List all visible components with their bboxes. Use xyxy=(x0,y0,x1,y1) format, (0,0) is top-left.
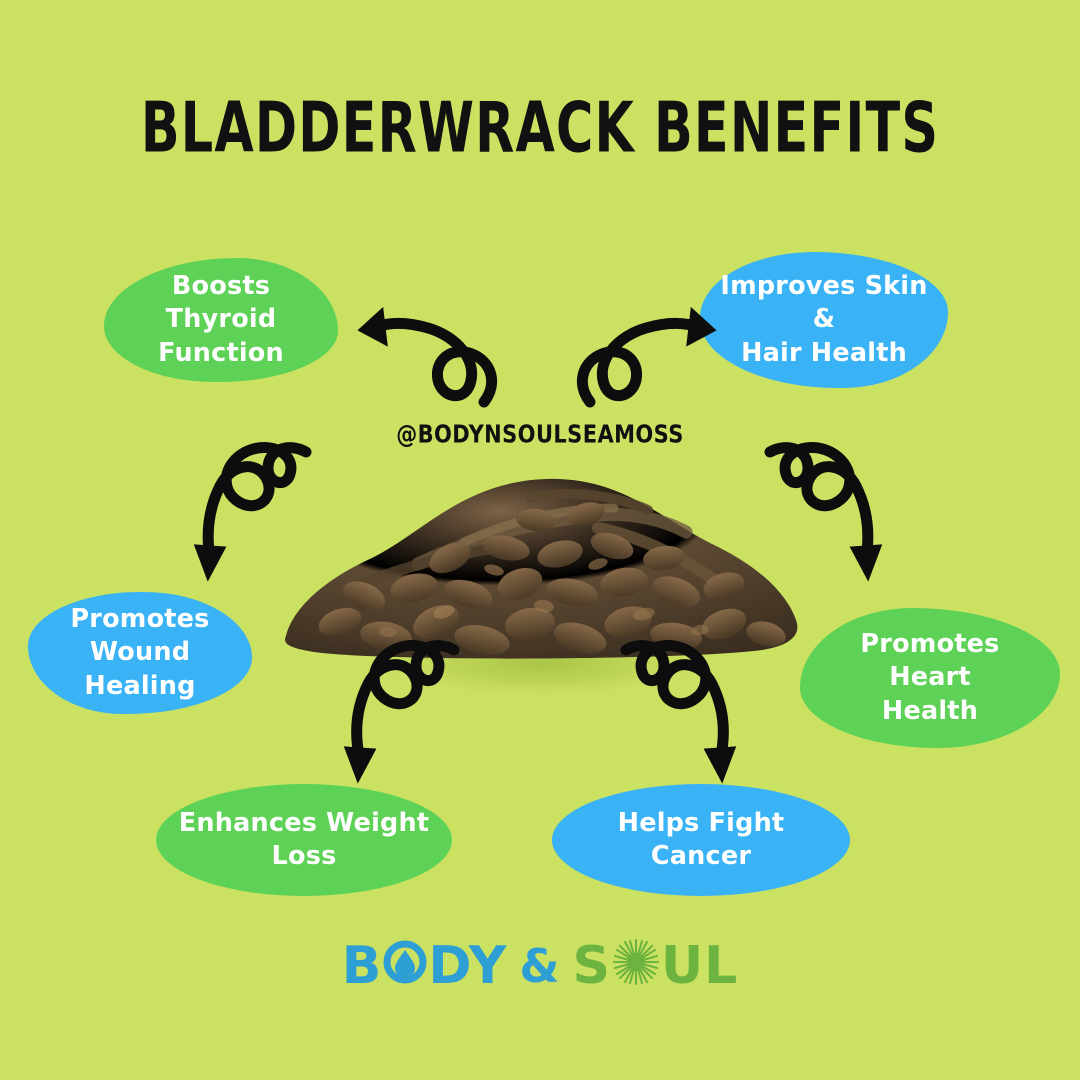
benefit-label-heart: Promotes Heart Health xyxy=(816,628,1044,727)
brand-logo: B DY & S xyxy=(0,938,1080,994)
sea-urchin-icon xyxy=(611,936,661,992)
page-title: BLADDERWRACK BENEFITS xyxy=(22,88,1059,169)
dried-bladderwrack-seaweed-pile xyxy=(268,436,814,706)
logo-body-dy: DY xyxy=(428,940,507,992)
benefit-label-cancer: Helps Fight Cancer xyxy=(618,807,785,873)
instagram-handle-watermark: @BODYNSOULSEAMOSS xyxy=(0,420,1080,448)
logo-ampersand: & xyxy=(519,943,560,989)
infographic-poster: BLADDERWRACK BENEFITS xyxy=(0,0,1080,1080)
logo-soul-s: S xyxy=(573,940,611,992)
logo-soul-ul: UL xyxy=(661,940,738,992)
benefit-label-thyroid: Boosts Thyroid Function xyxy=(120,270,322,369)
logo-body-b: B xyxy=(342,940,383,992)
benefit-bubble-wound[interactable]: Promotes Wound Healing xyxy=(28,592,252,714)
curly-arrow-icon-skin xyxy=(572,288,722,408)
water-drop-icon xyxy=(382,936,428,992)
curly-arrow-icon-thyroid xyxy=(352,288,502,408)
benefit-bubble-heart[interactable]: Promotes Heart Health xyxy=(800,608,1060,748)
benefit-label-skin: Improves Skin & Hair Health xyxy=(716,270,932,369)
benefit-label-wound: Promotes Wound Healing xyxy=(44,603,236,702)
benefit-label-weight: Enhances Weight Loss xyxy=(179,807,429,873)
benefit-bubble-weight[interactable]: Enhances Weight Loss xyxy=(156,784,452,896)
benefit-bubble-skin[interactable]: Improves Skin & Hair Health xyxy=(700,252,948,388)
benefit-bubble-thyroid[interactable]: Boosts Thyroid Function xyxy=(104,258,338,382)
benefit-bubble-cancer[interactable]: Helps Fight Cancer xyxy=(552,784,850,896)
